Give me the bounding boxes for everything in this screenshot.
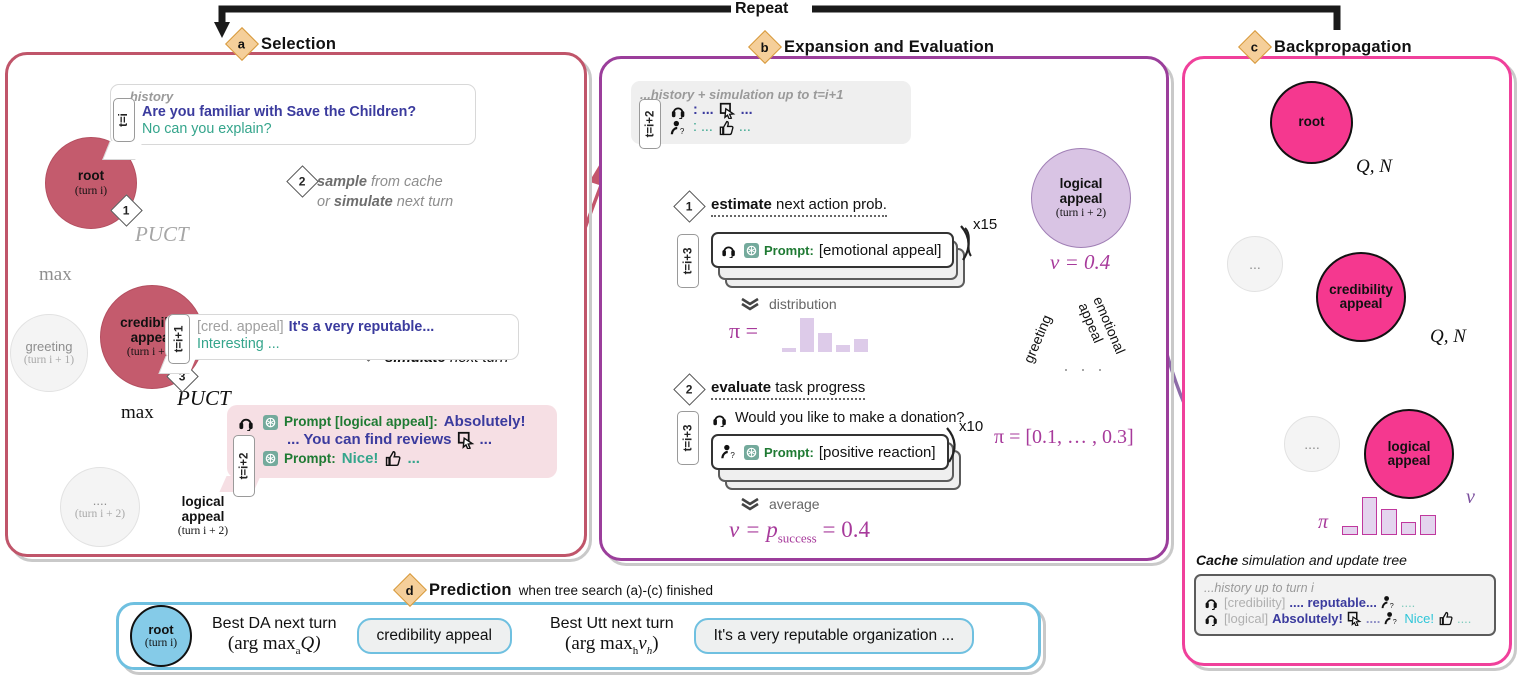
- cache-r2-sys-tail: ....: [1366, 611, 1380, 627]
- node-logical-backprop[interactable]: logical appeal: [1364, 409, 1454, 499]
- best-utt-value-chip[interactable]: It's a very reputable organization ...: [694, 618, 975, 654]
- best-utt-block: Best Utt next turn (arg maxhvh): [550, 615, 674, 657]
- panel-label-expansion: Expansion and Evaluation: [784, 38, 994, 57]
- cursor-click-icon: [457, 431, 475, 449]
- step2-line2-bold: simulate: [334, 194, 393, 210]
- value-estimate-expansion: v = psuccess = 0.4: [729, 517, 870, 547]
- panel-label-selection: Selection: [261, 35, 336, 54]
- node-logical-label-1: logical: [182, 495, 225, 509]
- bubble3-usr-tail: ...: [407, 450, 420, 468]
- cache-title: Cache simulation and update tree: [1196, 552, 1407, 568]
- qn-label-2: Q, N: [1430, 326, 1466, 348]
- node-logical-expansion-label-1: logical: [1060, 177, 1103, 191]
- node-dots-label: ....: [93, 494, 107, 508]
- cache-r2-usr-tail: ....: [1457, 611, 1471, 627]
- edge-dots: · · ·: [1063, 359, 1106, 380]
- puct-label-1: PUCT: [135, 222, 189, 247]
- node-greeting[interactable]: greeting (turn i + 1): [10, 314, 88, 392]
- panel-prediction: root (turn i) Best DA next turn (arg max…: [116, 602, 1041, 670]
- bubble2-sys: It's a very reputable...: [289, 319, 435, 336]
- best-utt-formula-a: (arg max: [565, 633, 633, 654]
- bubble2-tag: [cred. appeal]: [197, 319, 284, 336]
- node-logical-label-2: appeal: [182, 510, 225, 524]
- pi-value-expansion: π = [0.1, … , 0.3]: [994, 426, 1134, 449]
- v-label-backprop: v: [1466, 486, 1475, 509]
- bar: [1342, 526, 1358, 535]
- bubble-history: ...history Are you familiar with Save th…: [110, 84, 476, 145]
- step2-text: sample from cache or simulate next turn: [317, 172, 453, 213]
- step2-bold: sample: [317, 174, 367, 190]
- node-logical-expansion-label-2: appeal: [1060, 192, 1103, 206]
- cursor-click-icon: [1347, 611, 1362, 626]
- bubble2-usr: Interesting ...: [197, 336, 280, 353]
- bar: [1362, 497, 1378, 535]
- bubble-credibility: [cred. appeal] It's a very reputable... …: [165, 314, 519, 360]
- best-da-label: Best DA next turn: [212, 615, 337, 633]
- node-logical-expansion-turn: (turn i + 2): [1056, 207, 1106, 219]
- cache-r1-usr: ....: [1401, 595, 1415, 611]
- step2-rest: from cache: [367, 174, 443, 190]
- panel-title-backprop: c Backpropagation: [1243, 35, 1412, 59]
- node-logical-backprop-label-2: appeal: [1388, 454, 1431, 468]
- node-credibility-backprop-label-1: credibility: [1329, 283, 1393, 297]
- node-root-prediction-turn: (turn i): [145, 637, 177, 649]
- svg-text:?: ?: [1393, 617, 1397, 626]
- qn-label-1: Q, N: [1356, 156, 1392, 178]
- cache-box: ...history up to turn i [credibility] ..…: [1194, 574, 1496, 636]
- node-ghost-1-label: ...: [1249, 257, 1261, 272]
- llm-icon: [263, 415, 278, 430]
- node-ghost-1-backprop[interactable]: ...: [1227, 236, 1283, 292]
- value-num: = 0.4: [817, 517, 870, 542]
- node-root-backprop[interactable]: root: [1270, 81, 1353, 164]
- best-da-value-chip[interactable]: credibility appeal: [357, 618, 512, 654]
- turn-marker-history: t=i: [113, 98, 135, 142]
- user-icon: ?: [1384, 611, 1400, 626]
- node-logical-turn: (turn i + 2): [178, 525, 228, 537]
- bubble3-usr: Nice!: [342, 450, 379, 468]
- headset-icon: [1204, 595, 1220, 610]
- user-icon: ?: [1381, 595, 1397, 610]
- cache-bold: Cache: [1196, 552, 1238, 568]
- cache-rest: simulation and update tree: [1238, 552, 1407, 568]
- panel-title-selection: a Selection: [230, 32, 336, 56]
- thumbs-up-icon: [1438, 611, 1453, 626]
- average-label: average: [769, 496, 820, 512]
- bar: [1401, 522, 1417, 535]
- turn-marker-logical: t=i+2: [233, 435, 255, 497]
- best-utt-label: Best Utt next turn: [550, 615, 674, 633]
- repeat-label: Repeat: [735, 0, 788, 18]
- bubble3-prompt-label: Prompt [logical appeal]:: [284, 414, 438, 430]
- policy-distribution-chart-backprop: [1342, 493, 1436, 535]
- bar: [1381, 509, 1397, 535]
- cache-history-label: ...history up to turn i: [1204, 581, 1486, 595]
- chevron-double-down-icon: [739, 496, 761, 512]
- headset-icon: [1204, 611, 1220, 626]
- turn-marker-credibility: t=i+1: [168, 314, 190, 364]
- panel-expansion: ...history + simulation up to t=i+1 : ..…: [599, 56, 1169, 561]
- pi-label-backprop: π: [1318, 511, 1328, 534]
- cache-r2-usr: Nice!: [1404, 611, 1434, 627]
- v-value-expansion: v = 0.4: [1050, 250, 1110, 275]
- node-greeting-label: greeting: [26, 340, 73, 354]
- best-utt-formula-b: v: [638, 633, 646, 654]
- panel-badge-c: c: [1238, 30, 1272, 64]
- cache-r2-tag: [logical]: [1224, 611, 1268, 627]
- node-root-label: root: [78, 169, 104, 183]
- node-dots-turn: (turn i + 2): [75, 508, 125, 520]
- bubble3-sys-1: Absolutely!: [444, 413, 526, 431]
- history-label: ...history: [119, 89, 467, 104]
- cache-r2-sys: Absolutely!: [1272, 611, 1343, 627]
- history-sys-text: Are you familiar with Save the Children?: [142, 104, 416, 121]
- panel-sub-prediction: when tree search (a)-(c) finished: [519, 583, 713, 598]
- panel-label-prediction: Prediction: [429, 581, 512, 600]
- panel-badge-a: a: [225, 27, 259, 61]
- step2-line2-rest: next turn: [393, 194, 453, 210]
- node-root-backprop-label: root: [1298, 115, 1324, 129]
- step2-line2-a: or: [317, 194, 334, 210]
- node-dots-selection[interactable]: .... (turn i + 2): [60, 467, 140, 547]
- max-label-1: max: [39, 264, 72, 286]
- node-root-prediction[interactable]: root (turn i): [130, 605, 192, 667]
- best-utt-formula-c: ): [652, 633, 658, 654]
- thumbs-up-icon: [384, 450, 401, 467]
- svg-text:?: ?: [1390, 602, 1394, 611]
- bubble3-prompt-label2: Prompt:: [284, 451, 336, 467]
- cache-r1-sys: .... reputable...: [1289, 595, 1376, 611]
- best-da-formula-b: Q): [301, 633, 321, 654]
- bar: [1420, 515, 1436, 535]
- node-credibility-backprop-label-2: appeal: [1340, 297, 1383, 311]
- bubble-logical-prompt: Prompt [logical appeal]: Absolutely! ...…: [227, 405, 557, 478]
- node-greeting-turn: (turn i + 1): [24, 354, 74, 366]
- panel-badge-d: d: [393, 573, 427, 607]
- average-row: average: [739, 496, 820, 512]
- best-da-value: credibility appeal: [377, 627, 492, 644]
- best-utt-value: It's a very reputable organization ...: [714, 627, 955, 644]
- bubble3-sys-3: ...: [480, 431, 493, 449]
- headset-icon: [237, 414, 257, 431]
- panel-selection: root (turn i) greeting (turn i + 1) cred…: [5, 52, 587, 557]
- node-ghost-2-label: ....: [1304, 437, 1320, 452]
- bubble3-sys-2: ... You can find reviews: [287, 431, 452, 449]
- node-logical-appeal-expansion[interactable]: logical appeal (turn i + 2): [1031, 148, 1131, 248]
- value-sub: success: [778, 531, 817, 546]
- step-badge-2: 2: [286, 165, 319, 198]
- value-eq: v = p: [729, 517, 778, 542]
- node-credibility-backprop[interactable]: credibility appeal: [1316, 252, 1406, 342]
- node-ghost-2-backprop[interactable]: ....: [1284, 416, 1340, 472]
- panel-title-prediction: d Prediction when tree search (a)-(c) fi…: [398, 578, 713, 602]
- node-root-turn: (turn i): [75, 185, 107, 197]
- panel-backpropagation: root ... credibility appeal .... logical…: [1182, 56, 1512, 666]
- panel-title-expansion: b Expansion and Evaluation: [753, 35, 994, 59]
- best-da-block: Best DA next turn (arg maxaQ): [212, 615, 337, 657]
- panel-label-backprop: Backpropagation: [1274, 38, 1412, 57]
- cache-r1-tag: [credibility]: [1224, 595, 1285, 611]
- best-da-formula-a: (arg max: [228, 633, 296, 654]
- max-label-2: max: [121, 402, 154, 424]
- llm-icon: [263, 451, 278, 466]
- node-root-prediction-label: root: [148, 623, 173, 637]
- panel-badge-b: b: [748, 30, 782, 64]
- history-usr-text: No can you explain?: [142, 121, 272, 138]
- node-logical-backprop-label-1: logical: [1388, 440, 1431, 454]
